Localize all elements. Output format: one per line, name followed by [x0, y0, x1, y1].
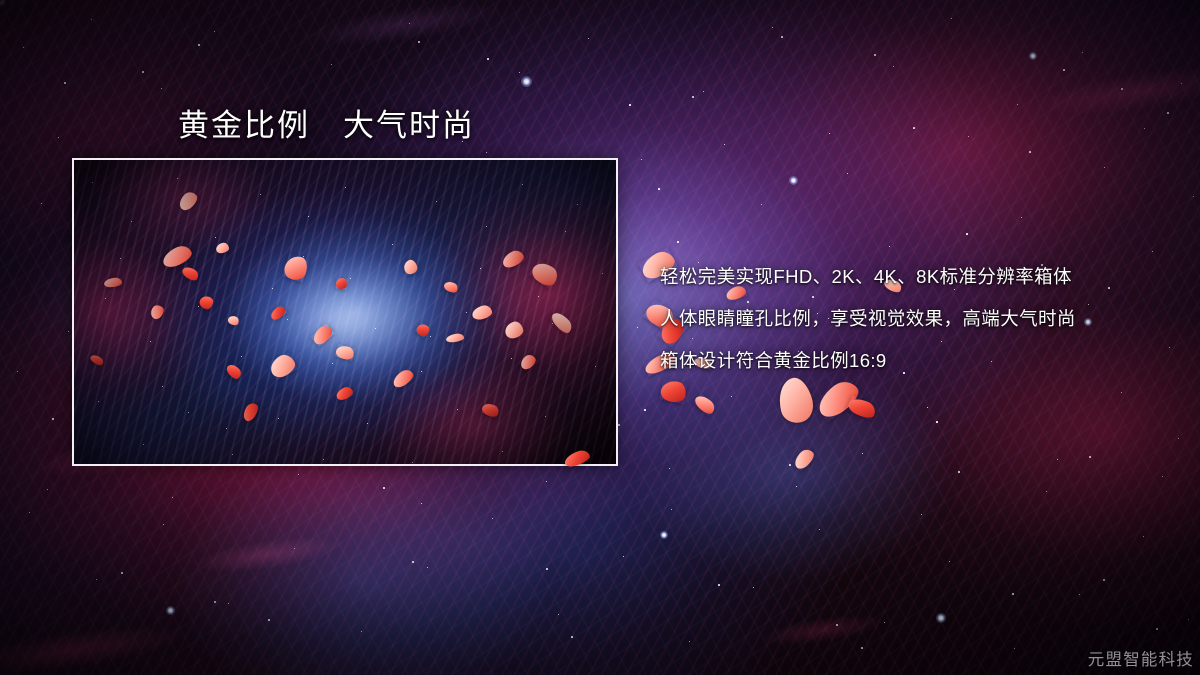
body-line-1: 轻松完美实现FHD、2K、4K、8K标准分辨率箱体: [660, 256, 1130, 298]
body-line-2: 人体眼睛瞳孔比例，享受视觉效果，高端大气时尚: [660, 298, 1130, 340]
slide-title: 黄金比例 大气时尚: [178, 100, 475, 145]
framed-image-panel: [72, 158, 618, 466]
image-content: [74, 160, 616, 464]
company-watermark: 元盟智能科技: [1088, 646, 1194, 670]
body-line-3: 箱体设计符合黄金比例16:9: [660, 340, 1130, 382]
presentation-slide: 黄金比例 大气时尚: [0, 0, 1200, 675]
body-text-block: 轻松完美实现FHD、2K、4K、8K标准分辨率箱体 人体眼睛瞳孔比例，享受视觉效…: [660, 256, 1130, 382]
inner-image-vignette: [74, 160, 616, 464]
